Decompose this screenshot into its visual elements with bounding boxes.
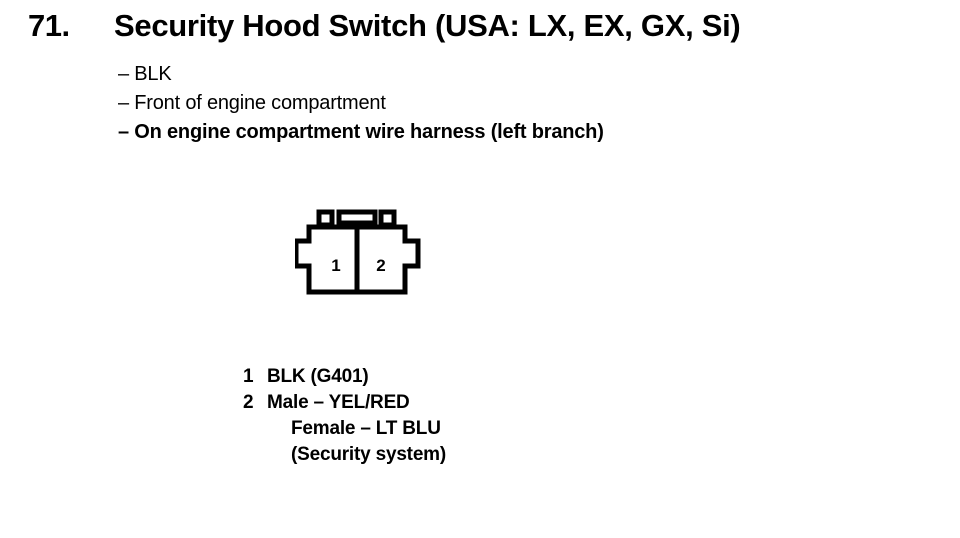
legend-pin-number: 1 — [243, 364, 267, 390]
legend-pin-text: (Security system) — [291, 442, 446, 468]
pin-legend: 1 BLK (G401) 2 Male – YEL/RED Female – L… — [243, 364, 446, 468]
legend-row: 1 BLK (G401) — [243, 364, 446, 390]
legend-pin-number — [243, 416, 267, 442]
legend-pin-text: BLK (G401) — [267, 364, 368, 390]
page-header: 71. Security Hood Switch (USA: LX, EX, G… — [0, 8, 960, 44]
connector-tab-center — [339, 212, 375, 223]
legend-row: (Security system) — [243, 442, 446, 468]
page-title: Security Hood Switch (USA: LX, EX, GX, S… — [114, 8, 740, 44]
legend-pin-number — [243, 442, 267, 468]
pin-label-2: 2 — [376, 256, 385, 275]
legend-pin-text: Male – YEL/RED — [267, 390, 410, 416]
pin-label-1: 1 — [331, 256, 340, 275]
list-item: – Front of engine compartment — [118, 89, 604, 118]
legend-row: Female – LT BLU — [243, 416, 446, 442]
list-item: – On engine compartment wire harness (le… — [118, 118, 604, 147]
description-list: – BLK – Front of engine compartment – On… — [118, 60, 604, 147]
item-number: 71. — [28, 8, 114, 44]
legend-pin-text: Female – LT BLU — [291, 416, 441, 442]
connector-tab-right — [381, 212, 394, 225]
connector-svg: 1 2 — [295, 208, 445, 303]
connector-diagram: 1 2 — [295, 208, 445, 303]
legend-row: 2 Male – YEL/RED — [243, 390, 446, 416]
legend-pin-number: 2 — [243, 390, 267, 416]
connector-tab-left — [319, 212, 332, 225]
list-item: – BLK — [118, 60, 604, 89]
